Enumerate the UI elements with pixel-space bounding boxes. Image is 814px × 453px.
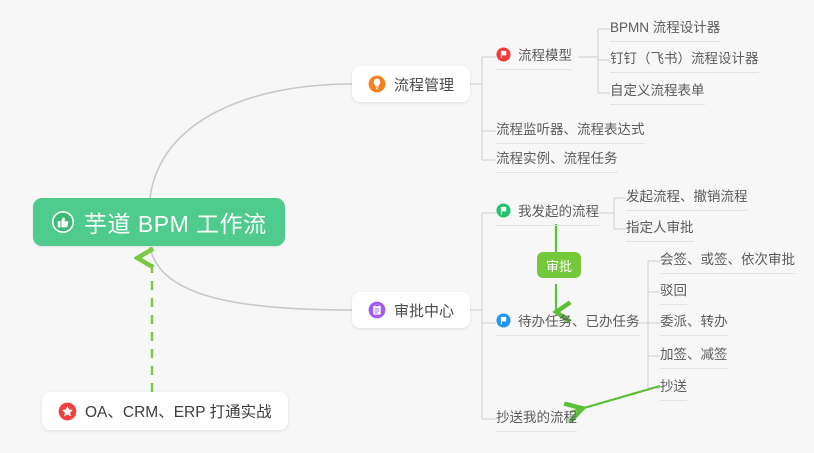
branch-label-approval-center: 审批中心 <box>394 300 454 321</box>
leaf-assignee-approval[interactable]: 指定人审批 <box>626 216 694 242</box>
leaf-cc-to-me-process[interactable]: 抄送我的流程 <box>496 406 577 432</box>
blue-flag-icon <box>496 313 511 328</box>
branch-node-approval-center[interactable]: 审批中心 <box>352 292 470 328</box>
node-label-my-initiated-process: 我发起的流程 <box>518 200 599 220</box>
thumbs-up-icon <box>51 210 75 234</box>
edge-root-to-process-management <box>150 84 352 198</box>
clipboard-icon <box>368 301 386 319</box>
approval-tag[interactable]: 审批 <box>537 252 581 278</box>
leaf-delegate-transfer[interactable]: 委派、转办 <box>660 310 728 336</box>
leaf-reject[interactable]: 驳回 <box>660 279 687 305</box>
arrow-carbon-copy-to-cc-process <box>570 386 660 412</box>
root-node[interactable]: 芋道 BPM 工作流 <box>33 198 285 246</box>
leaf-process-listener-expression[interactable]: 流程监听器、流程表达式 <box>496 118 645 144</box>
leaf-dingtalk-feishu-designer[interactable]: 钉钉（飞书）流程设计器 <box>610 47 759 73</box>
leaf-bpmn-designer[interactable]: BPMN 流程设计器 <box>610 16 720 42</box>
leaf-custom-process-form[interactable]: 自定义流程表单 <box>610 79 705 105</box>
red-star-icon <box>58 402 77 421</box>
node-label-process-model: 流程模型 <box>518 44 572 64</box>
bottom-note-label: OA、CRM、ERP 打通实战 <box>85 400 272 422</box>
node-my-initiated-process[interactable]: 我发起的流程 <box>496 200 599 226</box>
node-todo-done-tasks[interactable]: 待办任务、已办任务 <box>496 310 640 336</box>
bottom-note-node[interactable]: OA、CRM、ERP 打通实战 <box>42 392 288 430</box>
leaf-countersign[interactable]: 会签、或签、依次审批 <box>660 248 795 274</box>
edge-root-to-approval-center <box>150 247 352 310</box>
lightbulb-icon <box>368 75 386 93</box>
root-label: 芋道 BPM 工作流 <box>84 205 267 239</box>
leaf-start-cancel-process[interactable]: 发起流程、撤销流程 <box>626 185 748 211</box>
branch-label-process-management: 流程管理 <box>394 74 454 95</box>
green-flag-icon <box>496 203 511 218</box>
branch-node-process-management[interactable]: 流程管理 <box>352 66 470 102</box>
mindmap-canvas: 芋道 BPM 工作流 流程管理 流程模型 BPMN 流程设计器 钉钉（飞书）流程… <box>0 0 814 453</box>
leaf-add-remove-sign[interactable]: 加签、减签 <box>660 343 728 369</box>
node-label-todo-done-tasks: 待办任务、已办任务 <box>518 310 640 330</box>
red-flag-icon <box>496 47 511 62</box>
leaf-carbon-copy[interactable]: 抄送 <box>660 375 687 401</box>
leaf-process-instance-task[interactable]: 流程实例、流程任务 <box>496 147 618 173</box>
node-process-model[interactable]: 流程模型 <box>496 44 572 70</box>
approval-tag-label: 审批 <box>546 256 572 275</box>
